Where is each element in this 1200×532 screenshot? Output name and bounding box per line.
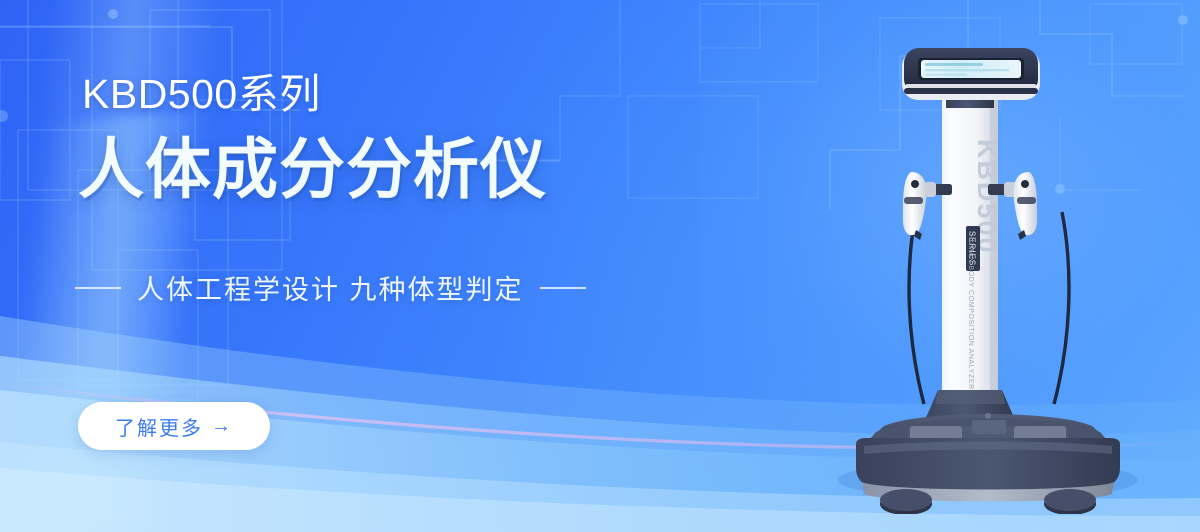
hero-banner: KBD500 SERIES HUMAN BODY COMPOSITION ANA…: [0, 0, 1200, 532]
device-display-head: [902, 48, 1040, 100]
dash-rule-left-icon: [75, 287, 121, 289]
hero-content: KBD500系列 人体成分分析仪 人体工程学设计 九种体型判定 了解更多 →: [0, 0, 700, 532]
page-title: 人体成分分析仪: [78, 136, 547, 202]
learn-more-label: 了解更多: [115, 412, 203, 441]
hero-subtitle-text: 人体工程学设计 九种体型判定: [137, 268, 524, 307]
learn-more-button[interactable]: 了解更多 →: [78, 402, 270, 450]
device-base-platform: [856, 413, 1120, 514]
product-kicker: KBD500系列: [82, 74, 321, 115]
device-illustration: KBD500 SERIES HUMAN BODY COMPOSITION ANA…: [812, 44, 1142, 514]
device-spec-text: HUMAN BODY COMPOSITION ANALYZER: [967, 234, 974, 390]
svg-text:HUMAN BODY COMPOSITION ANALYZE: HUMAN BODY COMPOSITION ANALYZER: [967, 234, 974, 390]
hero-subtitle: 人体工程学设计 九种体型判定: [75, 268, 586, 307]
dash-rule-right-icon: [540, 287, 586, 289]
arrow-right-icon: →: [211, 416, 233, 436]
